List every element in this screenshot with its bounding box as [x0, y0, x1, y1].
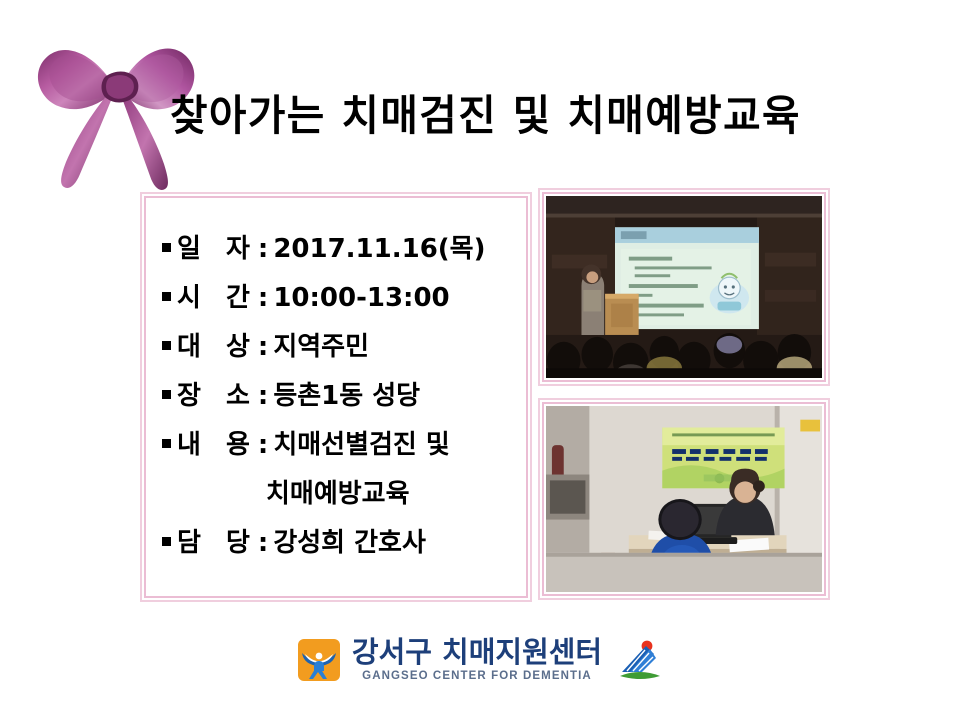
info-label: 일 자: [177, 228, 258, 265]
info-colon: :: [258, 528, 268, 558]
info-row-time: 시 간 : 10:00-13:00: [162, 277, 520, 326]
info-value: 등촌1동 성당: [273, 375, 420, 412]
bullet-square-icon: [162, 537, 171, 546]
info-row-place: 장 소 : 등촌1동 성당: [162, 375, 520, 424]
screening-photo-image: [546, 406, 822, 592]
lecture-photo-image: [546, 196, 822, 378]
page-title: 찾아가는 치매검진 및 치매예방교육: [170, 88, 936, 148]
footer-logo: 강서구 치매지원센터 GANGSEO CENTER FOR DEMENTIA: [0, 626, 960, 694]
info-content-continuation: 치매예방교육: [162, 473, 520, 522]
info-label: 내 용: [177, 424, 258, 461]
info-colon: :: [258, 381, 268, 411]
info-colon: :: [258, 283, 268, 313]
screening-photo: [538, 398, 830, 600]
info-value: 지역주민: [273, 326, 369, 363]
info-label: 대 상: [177, 326, 258, 363]
info-colon: :: [258, 332, 268, 362]
info-value: 강성희 간호사: [273, 522, 426, 559]
bullet-square-icon: [162, 292, 171, 301]
logo-title-ko: 강서구 치매지원센터: [352, 638, 602, 667]
info-value: 10:00-13:00: [273, 283, 449, 313]
gangseo-center-person-icon: [296, 637, 342, 683]
info-value: 치매선별검진 및: [273, 424, 450, 461]
info-row-target: 대 상 : 지역주민: [162, 326, 520, 375]
poster-canvas: 찾아가는 치매검진 및 치매예방교육 일 자 : 2017.11.16(목) 시…: [0, 0, 960, 720]
lecture-photo: [538, 188, 830, 386]
logo-title-en: GANGSEO CENTER FOR DEMENTIA: [362, 671, 592, 683]
bullet-square-icon: [162, 341, 171, 350]
info-list: 일 자 : 2017.11.16(목) 시 간 : 10:00-13:00 대 …: [162, 228, 520, 571]
info-row-staff: 담 당 : 강성희 간호사: [162, 522, 520, 571]
info-colon: :: [258, 430, 268, 460]
bullet-square-icon: [162, 390, 171, 399]
info-label: 시 간: [177, 277, 258, 314]
bullet-square-icon: [162, 439, 171, 448]
info-value: 2017.11.16(목): [273, 228, 485, 265]
info-label: 장 소: [177, 375, 258, 412]
info-row-date: 일 자 : 2017.11.16(목): [162, 228, 520, 277]
bullet-square-icon: [162, 243, 171, 252]
info-colon: :: [258, 234, 268, 264]
info-label: 담 당: [177, 522, 258, 559]
gangseo-gu-emblem-icon: [616, 638, 664, 682]
logo-text-block: 강서구 치매지원센터 GANGSEO CENTER FOR DEMENTIA: [352, 638, 602, 683]
info-row-content: 내 용 : 치매선별검진 및: [162, 424, 520, 473]
info-box: 일 자 : 2017.11.16(목) 시 간 : 10:00-13:00 대 …: [140, 192, 532, 602]
